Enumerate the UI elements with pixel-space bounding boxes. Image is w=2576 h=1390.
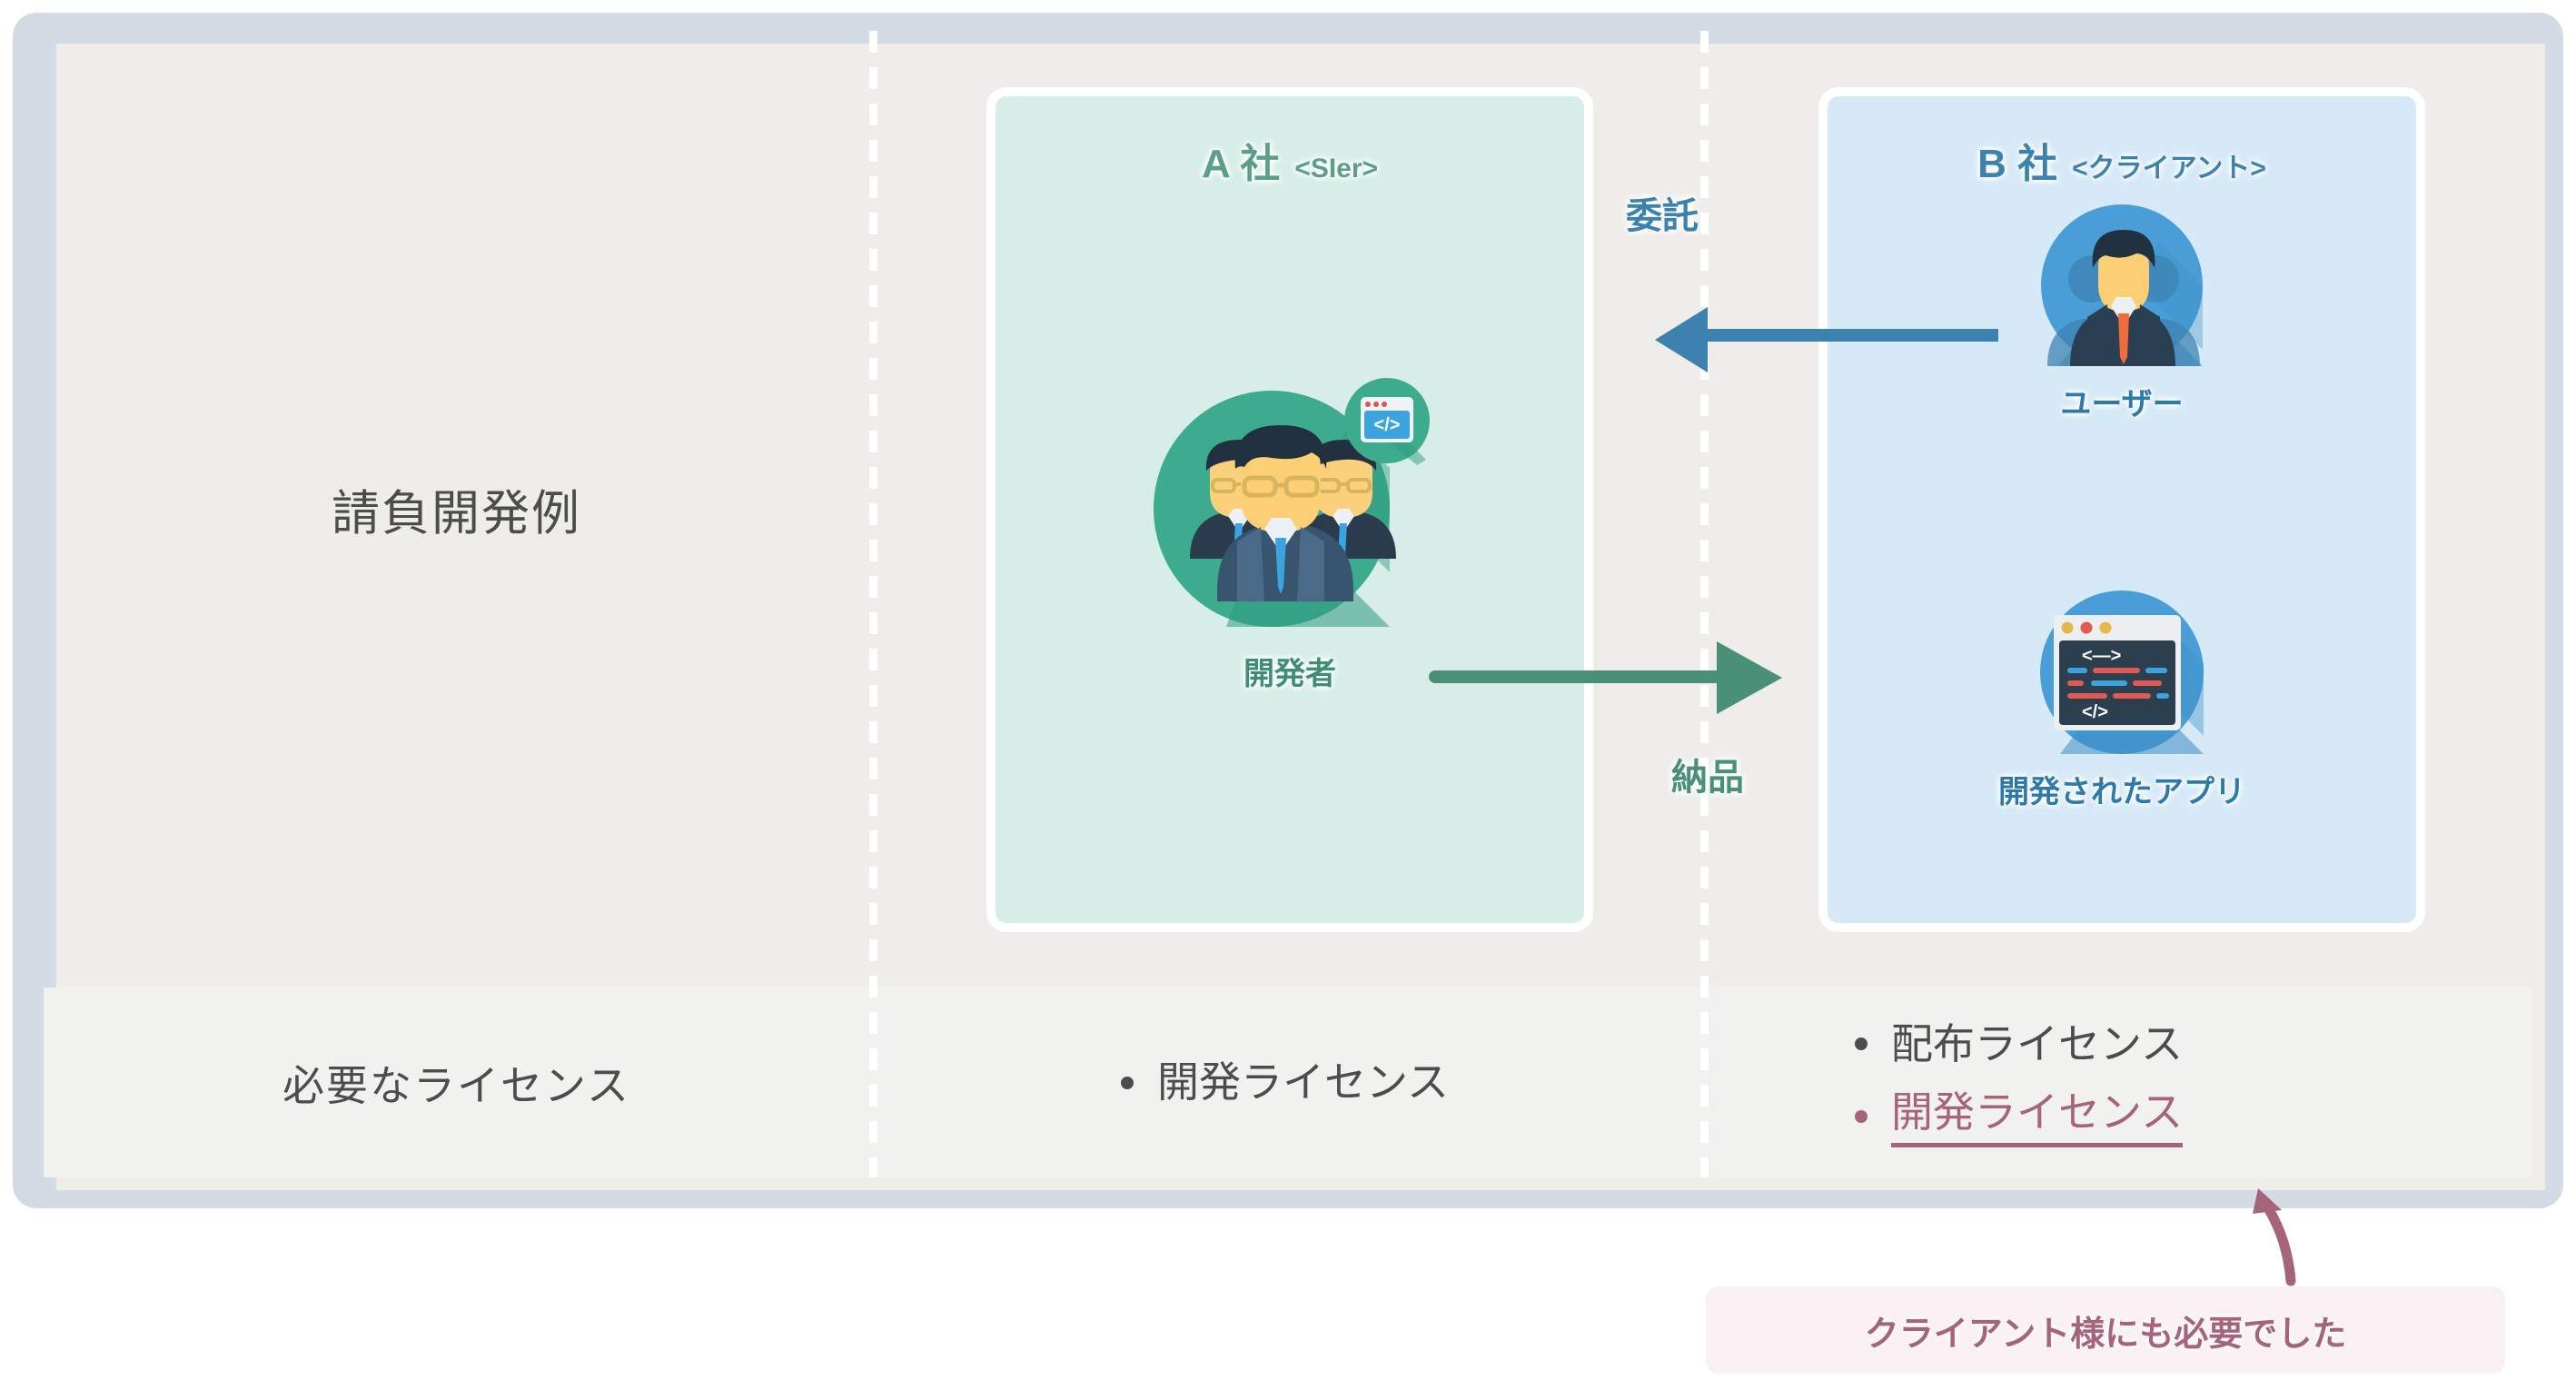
card-b-header: B 社<クライアント> xyxy=(1828,131,2416,189)
figure-user: ユーザー xyxy=(1977,204,2267,423)
card-a-header: A 社<SIer> xyxy=(996,131,1584,189)
figure-user-caption: ユーザー xyxy=(1977,379,2267,423)
row-label-example: 請負開発例 xyxy=(44,31,869,988)
license-item: 開発ライセンス xyxy=(1121,1057,1449,1109)
diagram-canvas: 請負開発例 A 社<SIer> xyxy=(0,0,2576,1390)
svg-text:<—>: <—> xyxy=(2082,646,2121,666)
license-item: 配布ライセンス xyxy=(1855,1018,2183,1071)
arrow-label-itaku: 委託 xyxy=(1626,186,1699,239)
row-label-license: 必要なライセンス xyxy=(44,988,869,1177)
arrow-nouhin xyxy=(1426,627,1880,727)
license-cell-company-a: 開発ライセンス xyxy=(869,988,1700,1177)
arrow-label-nouhin: 納品 xyxy=(1671,748,1744,800)
bullet-dot-icon xyxy=(1855,1038,1868,1050)
code-window-icon: <—> </> xyxy=(1977,591,2267,754)
callout-box: クライアント様にも必要でした xyxy=(1706,1286,2505,1374)
card-b-tag: <クライアント> xyxy=(2072,154,2266,184)
bullet-dot-icon xyxy=(1121,1077,1134,1089)
bullet-dot-icon xyxy=(1855,1110,1868,1123)
figure-developer-caption: 開発者 xyxy=(1126,649,1453,693)
figure-developer: </> 開発者 xyxy=(1126,363,1453,693)
license-label: 開発ライセンス xyxy=(1157,1057,1449,1109)
figure-app: <—> </> 開発されたアプリ xyxy=(1977,591,2267,811)
license-label: 配布ライセンス xyxy=(1891,1018,2183,1071)
figure-app-caption: 開発されたアプリ xyxy=(1977,767,2267,811)
license-item-highlight: 開発ライセンス xyxy=(1855,1087,2183,1147)
license-label-highlight: 開発ライセンス xyxy=(1891,1087,2183,1147)
svg-text:</>: </> xyxy=(1374,415,1401,435)
callout-text: クライアント様にも必要でした xyxy=(1865,1306,2346,1355)
card-a-title: A 社 xyxy=(1202,142,1280,186)
arrow-itaku xyxy=(1544,300,1998,382)
curved-up-arrow-icon xyxy=(2180,1136,2407,1290)
card-a-tag: <SIer> xyxy=(1294,154,1378,184)
user-person-icon xyxy=(1977,204,2267,366)
developer-team-icon: </> xyxy=(1126,363,1453,636)
license-cell-company-b: 配布ライセンス 開発ライセンス xyxy=(1700,988,2532,1177)
svg-text:</>: </> xyxy=(2082,702,2108,722)
card-b-title: B 社 xyxy=(1977,142,2057,186)
